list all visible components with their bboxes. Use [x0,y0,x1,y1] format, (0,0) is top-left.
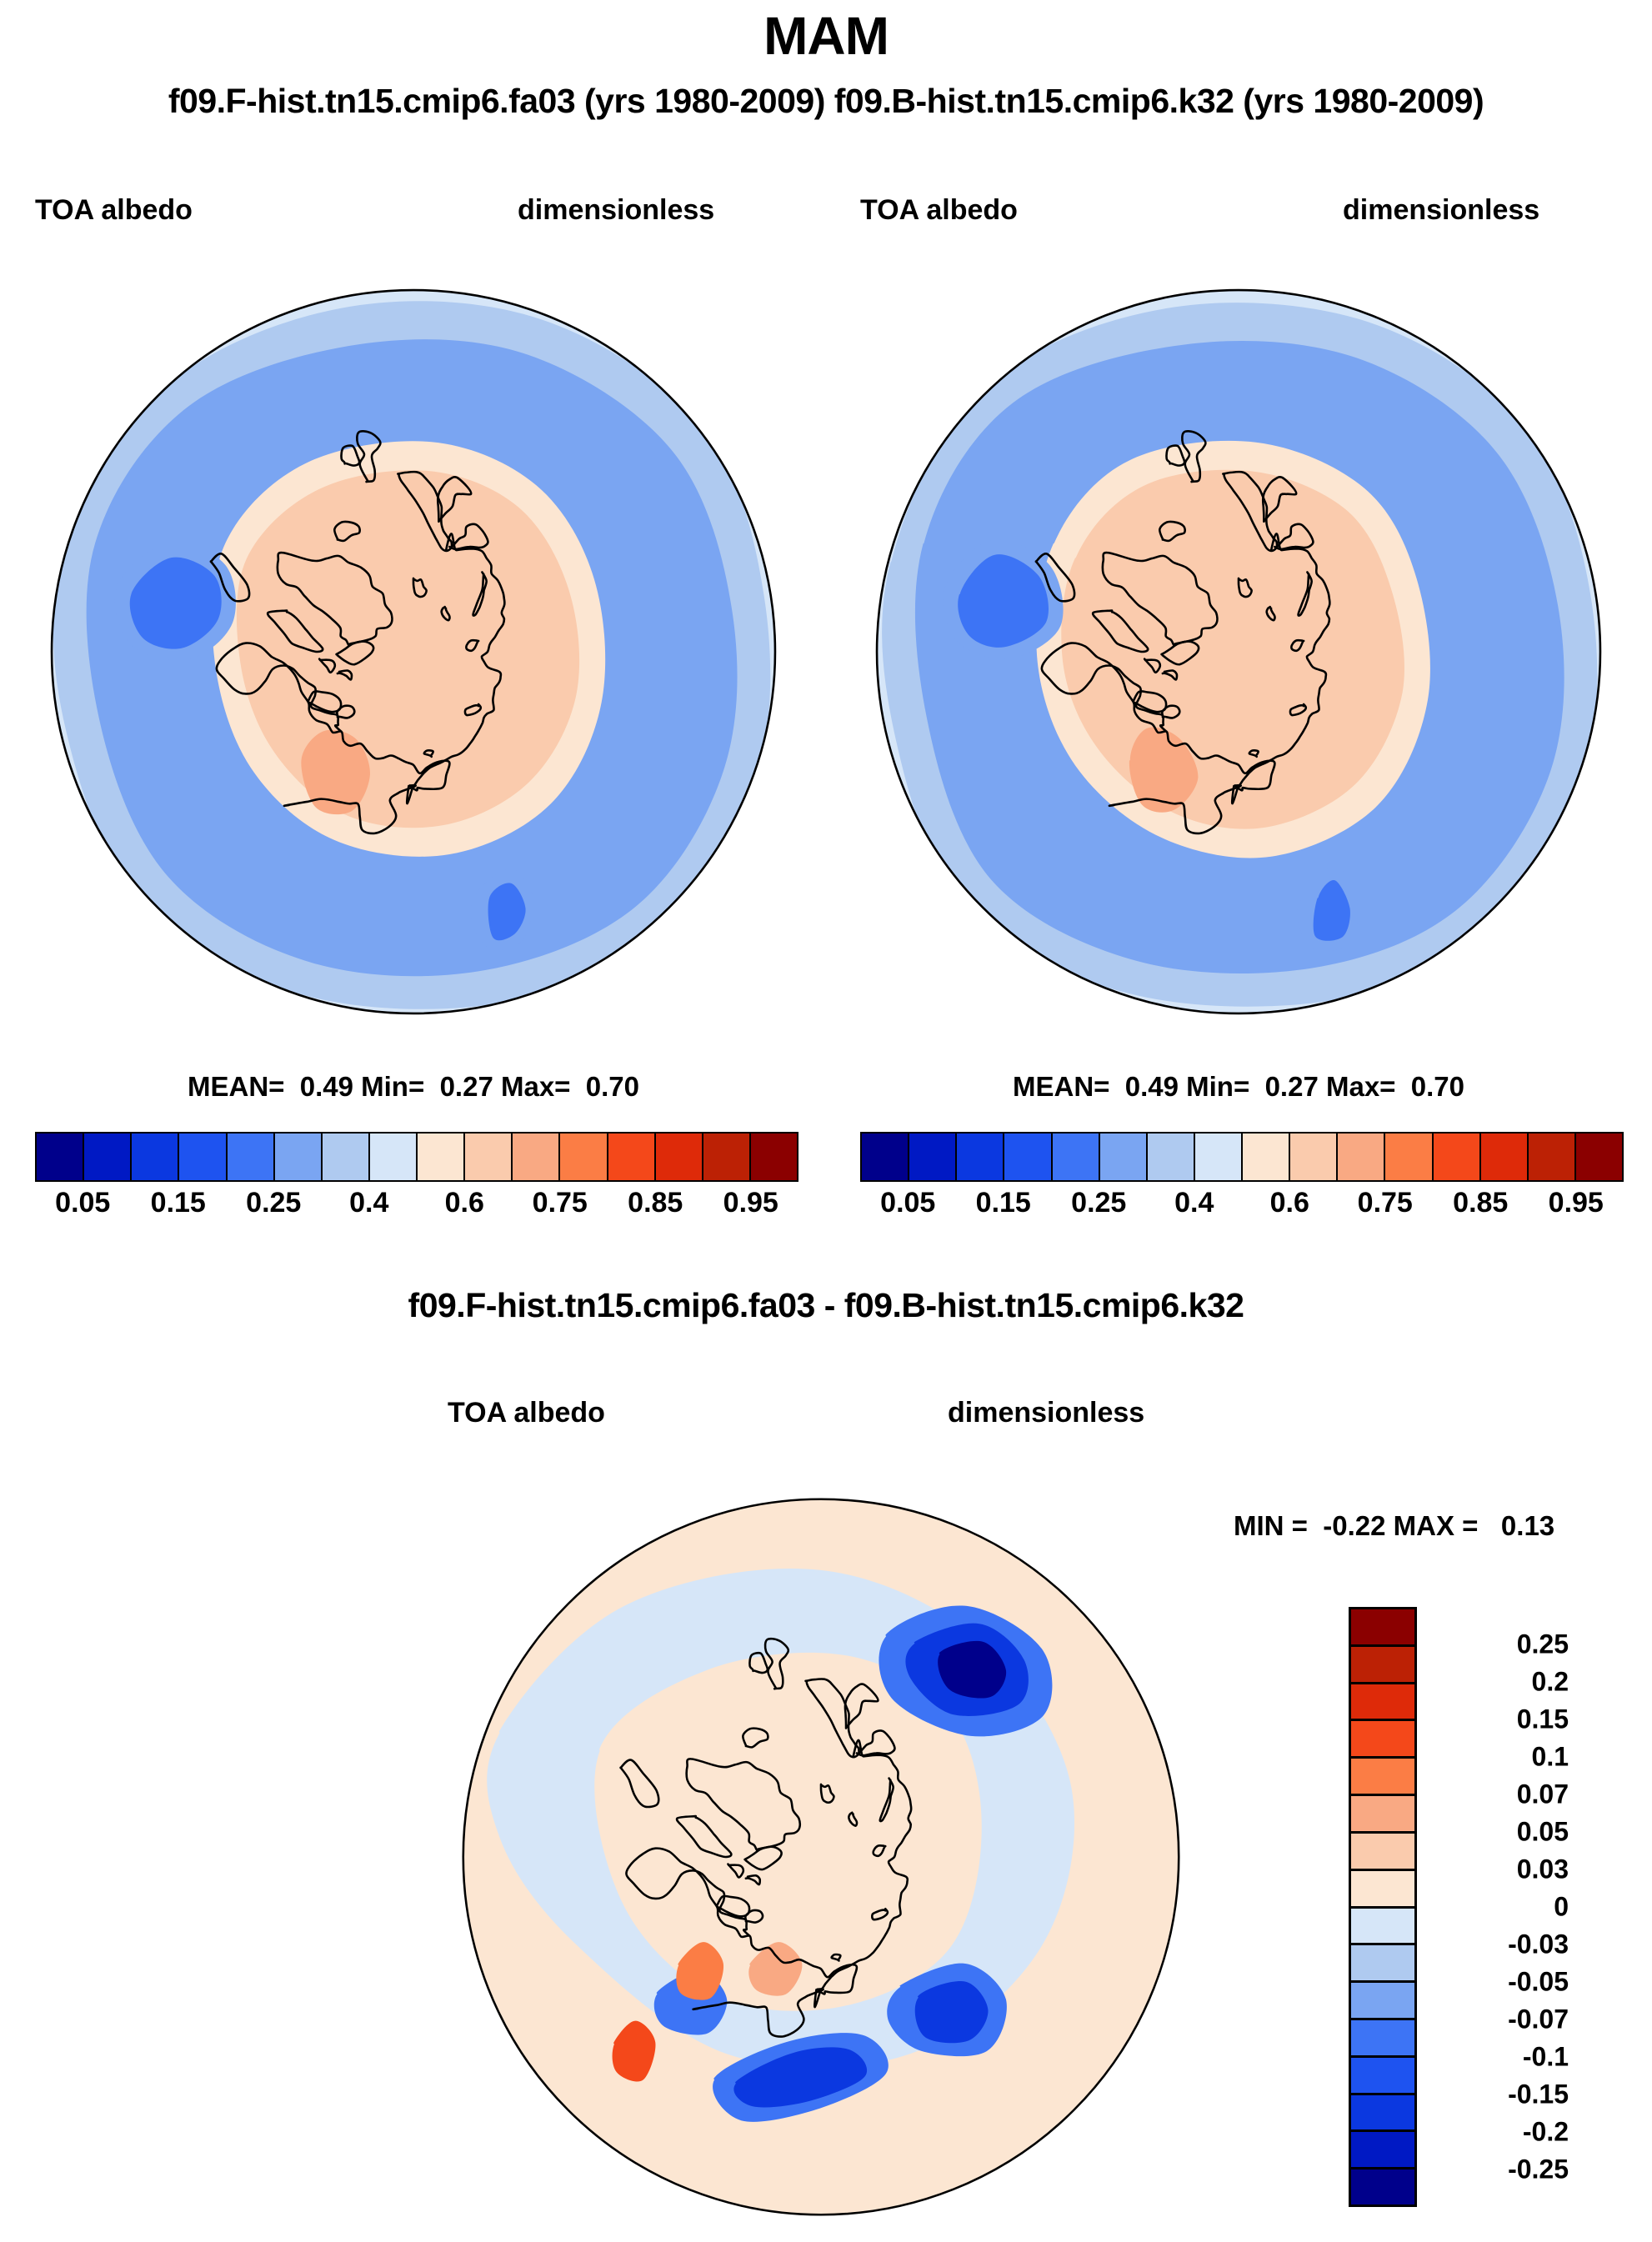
colorbar-cell [909,1134,957,1180]
main-title: MAM [0,5,1652,67]
colorbar-cell [1100,1134,1148,1180]
colorbar-tick-label: 0.6 [1270,1187,1309,1219]
colorbar-cell [1351,1609,1414,1647]
case-subtitle: f09.F-hist.tn15.cmip6.fa03 (yrs 1980-200… [0,82,1652,121]
colorbar-tick-label: 0.85 [1453,1187,1508,1219]
colorbar-tick-label: -0.03 [1508,1929,1569,1960]
colorbar-difference [1349,1607,1417,2207]
colorbar-cell [1351,1721,1414,1759]
right-panel-stats: MEAN= 0.49 Min= 0.27 Max= 0.70 [855,1071,1622,1103]
colorbar-cell [1338,1134,1385,1180]
colorbar-tick-label: 0.05 [1517,1817,1569,1848]
colorbar-tick-label: 0.15 [976,1187,1031,1219]
diff-panel-units-label: dimensionless [948,1397,1144,1429]
colorbar-cell [418,1134,465,1180]
left-panel-stats: MEAN= 0.49 Min= 0.27 Max= 0.70 [30,1071,797,1103]
colorbar-cell [703,1134,751,1180]
colorbar-tick-label: 0.85 [628,1187,683,1219]
colorbar-cell [957,1134,1004,1180]
colorbar-tick-label: 0.05 [55,1187,110,1219]
map-svg [30,268,797,1035]
map-svg [442,1474,1200,2240]
right-panel-units-label: dimensionless [1343,194,1539,227]
colorbar-tick-label: -0.07 [1508,2004,1569,2035]
colorbar-cell [275,1134,323,1180]
colorbar-cell [1351,1647,1414,1684]
colorbar-cell [1529,1134,1576,1180]
colorbar-tick-label: 0.07 [1517,1779,1569,1810]
colorbar-tick-label: 0.2 [1532,1667,1569,1698]
colorbar-cell [1351,2132,1414,2169]
colorbar-cell [608,1134,656,1180]
left-panel-variable-label: TOA albedo [35,194,193,227]
colorbar-cell [1004,1134,1052,1180]
colorbar-tick-label: 0.25 [1517,1629,1569,1660]
colorbar-cell [1351,2020,1414,2058]
colorbar-tick-label: 0.75 [1358,1187,1413,1219]
colorbar-cell [1195,1134,1243,1180]
colorbar-tick-label: -0.15 [1508,2079,1569,2110]
colorbar-tick-label: 0.95 [723,1187,778,1219]
colorbar-tick-label: 0.25 [1071,1187,1126,1219]
colorbar-tick-label: 0.15 [151,1187,206,1219]
colorbar-tick-label: 0.25 [246,1187,301,1219]
colorbar-tick-label: 0.4 [349,1187,388,1219]
colorbar-tick-label: 0.15 [1517,1704,1569,1735]
difference-title: f09.F-hist.tn15.cmip6.fa03 - f09.B-hist.… [0,1286,1652,1325]
colorbar-cell [656,1134,703,1180]
colorbar-cell [1290,1134,1338,1180]
colorbar-cell [1148,1134,1195,1180]
colorbar-cell [751,1134,797,1180]
colorbar-cell [370,1134,418,1180]
colorbar-right [860,1132,1624,1182]
colorbar-tick-label: 0.03 [1517,1854,1569,1885]
colorbar-cell [1053,1134,1100,1180]
colorbar-cell [560,1134,608,1180]
colorbar-tick-label: -0.05 [1508,1967,1569,1998]
colorbar-cell [1351,1796,1414,1834]
colorbar-cell [1576,1134,1622,1180]
colorbar-cell [1434,1134,1481,1180]
colorbar-cell [862,1134,909,1180]
colorbar-left-labels: 0.050.150.250.40.60.750.850.95 [35,1187,798,1225]
colorbar-cell [228,1134,275,1180]
colorbar-tick-label: 0.05 [880,1187,935,1219]
colorbar-cell [465,1134,513,1180]
colorbar-tick-label: -0.2 [1523,2117,1569,2148]
colorbar-tick-label: 0.1 [1532,1742,1569,1773]
colorbar-tick-label: 0.75 [533,1187,588,1219]
colorbar-cell [37,1134,84,1180]
arctic-map-left [30,268,797,1035]
colorbar-cell [1351,2058,1414,2095]
colorbar-cell [1351,1834,1414,1871]
colorbar-cell [513,1134,560,1180]
colorbar-cell [1351,2169,1414,2204]
colorbar-cell [179,1134,227,1180]
colorbar-cell [1351,2095,1414,2133]
colorbar-tick-label: 0.6 [445,1187,484,1219]
left-panel-units-label: dimensionless [518,194,714,227]
colorbar-cell [84,1134,132,1180]
colorbar-cell [132,1134,179,1180]
colorbar-cell [323,1134,370,1180]
right-panel-variable-label: TOA albedo [860,194,1018,227]
colorbar-cell [1351,1909,1414,1946]
colorbar-cell [1351,1684,1414,1722]
colorbar-cell [1243,1134,1290,1180]
colorbar-cell [1351,1759,1414,1796]
colorbar-cell [1385,1134,1433,1180]
arctic-map-difference [442,1474,1200,2240]
colorbar-tick-label: 0 [1554,1892,1569,1923]
diff-panel-stats: MIN = -0.22 MAX = 0.13 [1234,1510,1554,1542]
diff-panel-variable-label: TOA albedo [448,1397,605,1429]
colorbar-cell [1351,1871,1414,1909]
colorbar-tick-label: -0.1 [1523,2042,1569,2073]
colorbar-cell [1481,1134,1529,1180]
colorbar-cell [1351,1983,1414,2020]
colorbar-left [35,1132,798,1182]
arctic-map-right [855,268,1622,1035]
colorbar-tick-label: -0.25 [1508,2154,1569,2185]
colorbar-cell [1351,1945,1414,1983]
map-svg [855,268,1622,1035]
colorbar-difference-labels: 0.250.20.150.10.070.050.030-0.03-0.05-0.… [1427,1607,1569,2207]
colorbar-tick-label: 0.4 [1174,1187,1214,1219]
colorbar-right-labels: 0.050.150.250.40.60.750.850.95 [860,1187,1624,1225]
colorbar-tick-label: 0.95 [1549,1187,1604,1219]
